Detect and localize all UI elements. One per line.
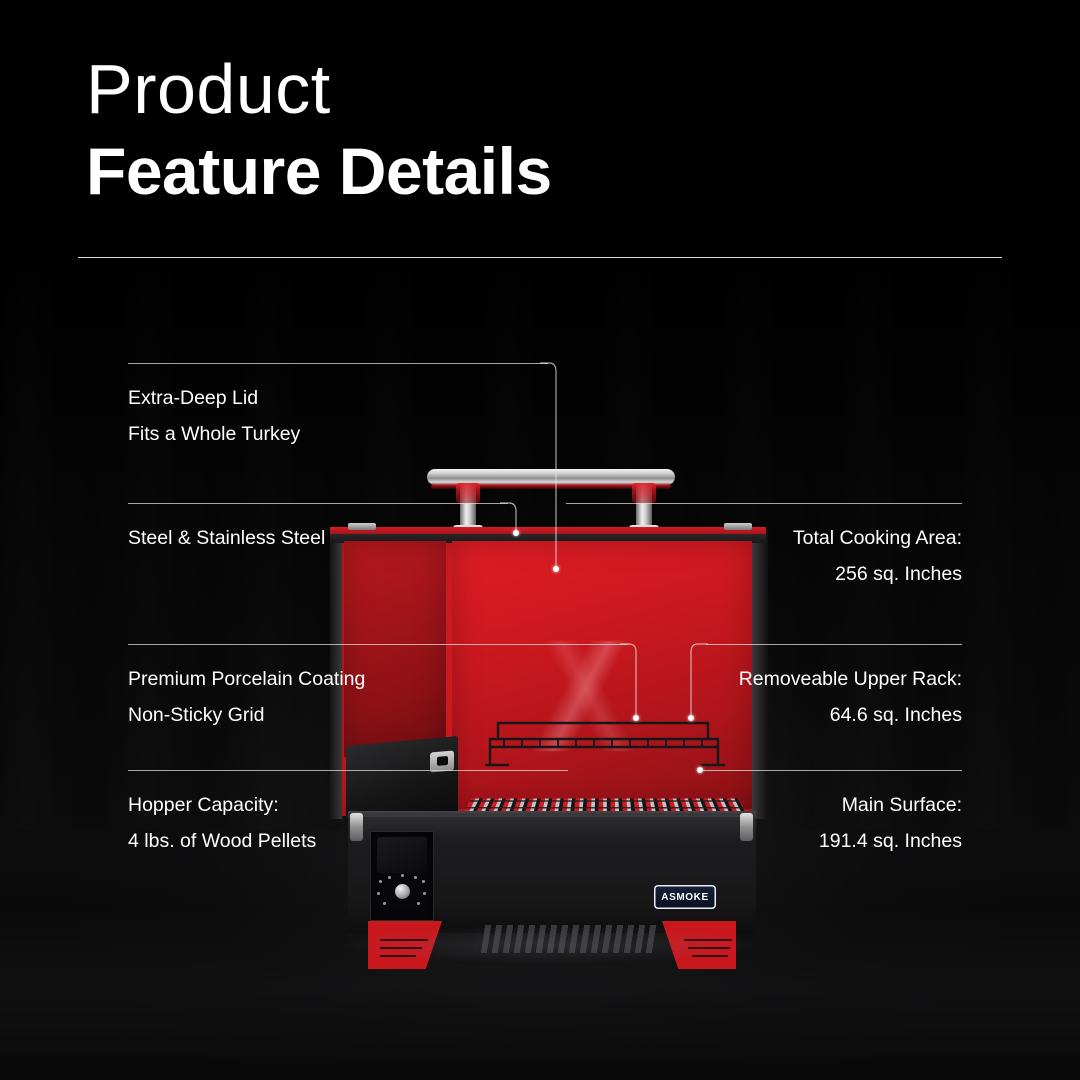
brand-logo-badge: ASMOKE [654, 885, 716, 909]
callout-text-steel-line1: Steel & Stainless Steel [128, 522, 325, 554]
callout-rule-hopper [128, 770, 568, 771]
callout-text-total-cooking-area-line1: Total Cooking Area: [562, 522, 962, 554]
callout-rule-upper-rack [706, 644, 962, 645]
callout-text-upper-rack-line2: 64.6 sq. Inches [562, 699, 962, 731]
callout-text-total-cooking-area-line2: 256 sq. Inches [562, 558, 962, 590]
lid-hinge-left [348, 523, 376, 530]
callout-text-porcelain-line1: Premium Porcelain Coating [128, 663, 365, 695]
callout-text-porcelain-line2: Non-Sticky Grid [128, 699, 265, 731]
control-panel-window [377, 837, 427, 873]
infographic-canvas: Product Feature Details [0, 0, 1080, 1080]
lid-panel-left [344, 541, 446, 757]
callout-rule-steel [128, 503, 508, 504]
control-panel[interactable] [370, 831, 434, 921]
leader-dot-steel [513, 530, 519, 536]
callout-rule-porcelain [128, 644, 628, 645]
title-line-2: Feature Details [86, 132, 552, 210]
callout-text-main-surface-line1: Main Surface: [562, 789, 962, 821]
brand-logo-text: ASMOKE [661, 892, 709, 903]
body-latch-left[interactable] [350, 813, 363, 841]
callout-rule-total-cooking-area [566, 503, 962, 504]
callout-text-main-surface-line2: 191.4 sq. Inches [562, 825, 962, 857]
floor-shadow [330, 925, 770, 965]
leader-dot-extra-deep-lid [553, 566, 559, 572]
callout-text-extra-deep-lid-line1: Extra-Deep Lid [128, 382, 258, 414]
lid-handle-post-left [460, 483, 476, 531]
callout-text-hopper-line2: 4 lbs. of Wood Pellets [128, 825, 316, 857]
callout-rule-main-surface [700, 770, 962, 771]
callout-text-extra-deep-lid-line2: Fits a Whole Turkey [128, 418, 300, 450]
page-title: Product Feature Details [86, 52, 552, 210]
header-divider [78, 257, 1002, 258]
title-line-1: Product [86, 52, 552, 126]
leader-dot-main-surface [697, 767, 703, 773]
callout-text-hopper-line1: Hopper Capacity: [128, 789, 279, 821]
callout-rule-extra-deep-lid [128, 363, 548, 364]
callout-text-upper-rack-line1: Removeable Upper Rack: [562, 663, 962, 695]
temperature-dial-knob[interactable] [395, 884, 410, 899]
